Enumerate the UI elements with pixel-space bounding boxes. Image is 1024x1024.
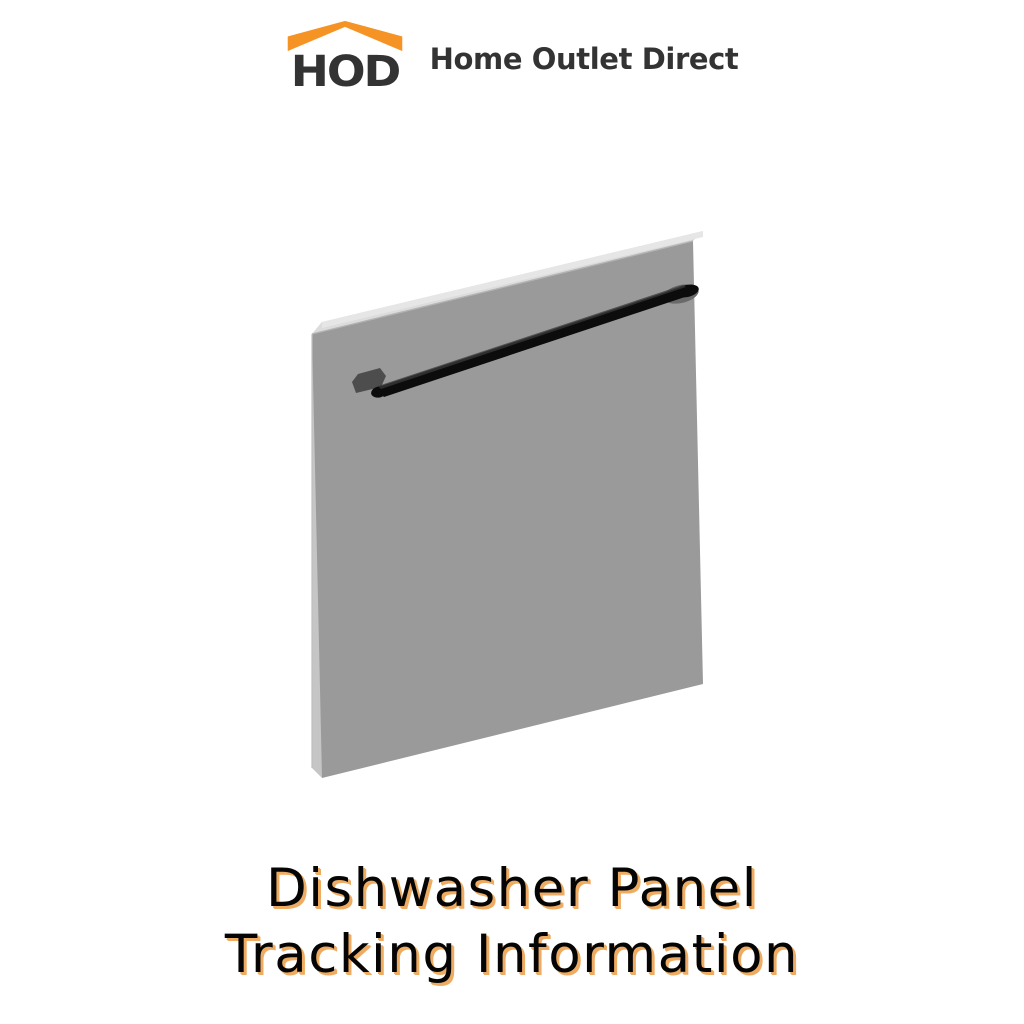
panel-front-face bbox=[312, 241, 703, 778]
brand-header: HOD Home Outlet Direct bbox=[0, 16, 1024, 96]
caption-block: Dishwasher Panel Tracking Information bbox=[0, 856, 1024, 988]
hod-logo-mark: HOD bbox=[286, 21, 404, 91]
caption-line-1: Dishwasher Panel bbox=[0, 856, 1024, 922]
brand-name-text: Home Outlet Direct bbox=[430, 42, 739, 76]
product-image bbox=[0, 190, 1024, 830]
hod-logo-text: HOD bbox=[282, 53, 407, 91]
brand-lockup: HOD Home Outlet Direct bbox=[286, 21, 739, 91]
dishwasher-panel-illustration bbox=[0, 190, 1024, 830]
caption-line-2: Tracking Information bbox=[0, 922, 1024, 988]
